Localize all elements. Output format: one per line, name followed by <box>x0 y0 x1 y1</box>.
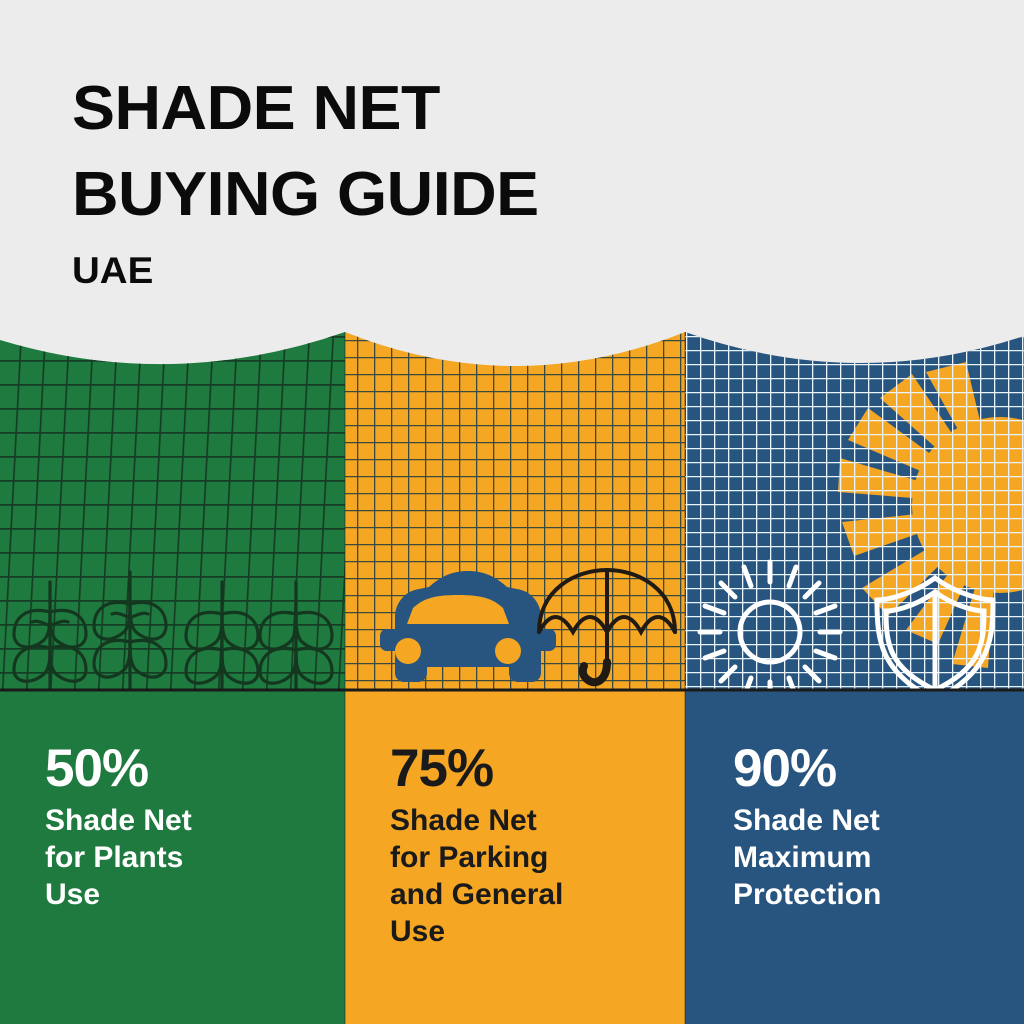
header: SHADE NET BUYING GUIDE UAE <box>0 0 1024 330</box>
caption-line: Protection <box>733 876 881 913</box>
caption-line: Shade Net <box>733 802 881 839</box>
page-title-line-1: SHADE NET <box>72 78 539 140</box>
percent-value-plants: 50% <box>45 742 192 796</box>
caption-line: and General <box>390 876 563 913</box>
caption-line: for Parking <box>390 839 563 876</box>
page-subtitle: UAE <box>72 252 539 289</box>
page-title-line-2: BUYING GUIDE <box>72 164 539 226</box>
percent-value-protection: 90% <box>733 742 881 796</box>
caption-parking: 75% Shade Net for Parking and General Us… <box>390 742 563 950</box>
caption-lines-protection: Shade Net Maximum Protection <box>733 802 881 913</box>
panel-plants <box>0 300 398 1024</box>
infographic-canvas: SHADE NET BUYING GUIDE UAE <box>0 0 1024 1024</box>
title-block: SHADE NET BUYING GUIDE UAE <box>72 78 521 289</box>
caption-line: Shade Net <box>390 802 563 839</box>
caption-line: Use <box>45 876 192 913</box>
caption-plants: 50% Shade Net for Plants Use <box>45 742 192 913</box>
panel-plants-mesh <box>0 300 398 720</box>
panel-protection <box>660 300 1024 1024</box>
caption-protection: 90% Shade Net Maximum Protection <box>733 742 881 913</box>
caption-lines-parking: Shade Net for Parking and General Use <box>390 802 563 950</box>
caption-line: Shade Net <box>45 802 192 839</box>
caption-lines-plants: Shade Net for Plants Use <box>45 802 192 913</box>
caption-line: for Plants <box>45 839 192 876</box>
caption-line: Use <box>390 913 563 950</box>
percent-value-parking: 75% <box>390 742 563 796</box>
caption-line: Maximum <box>733 839 881 876</box>
